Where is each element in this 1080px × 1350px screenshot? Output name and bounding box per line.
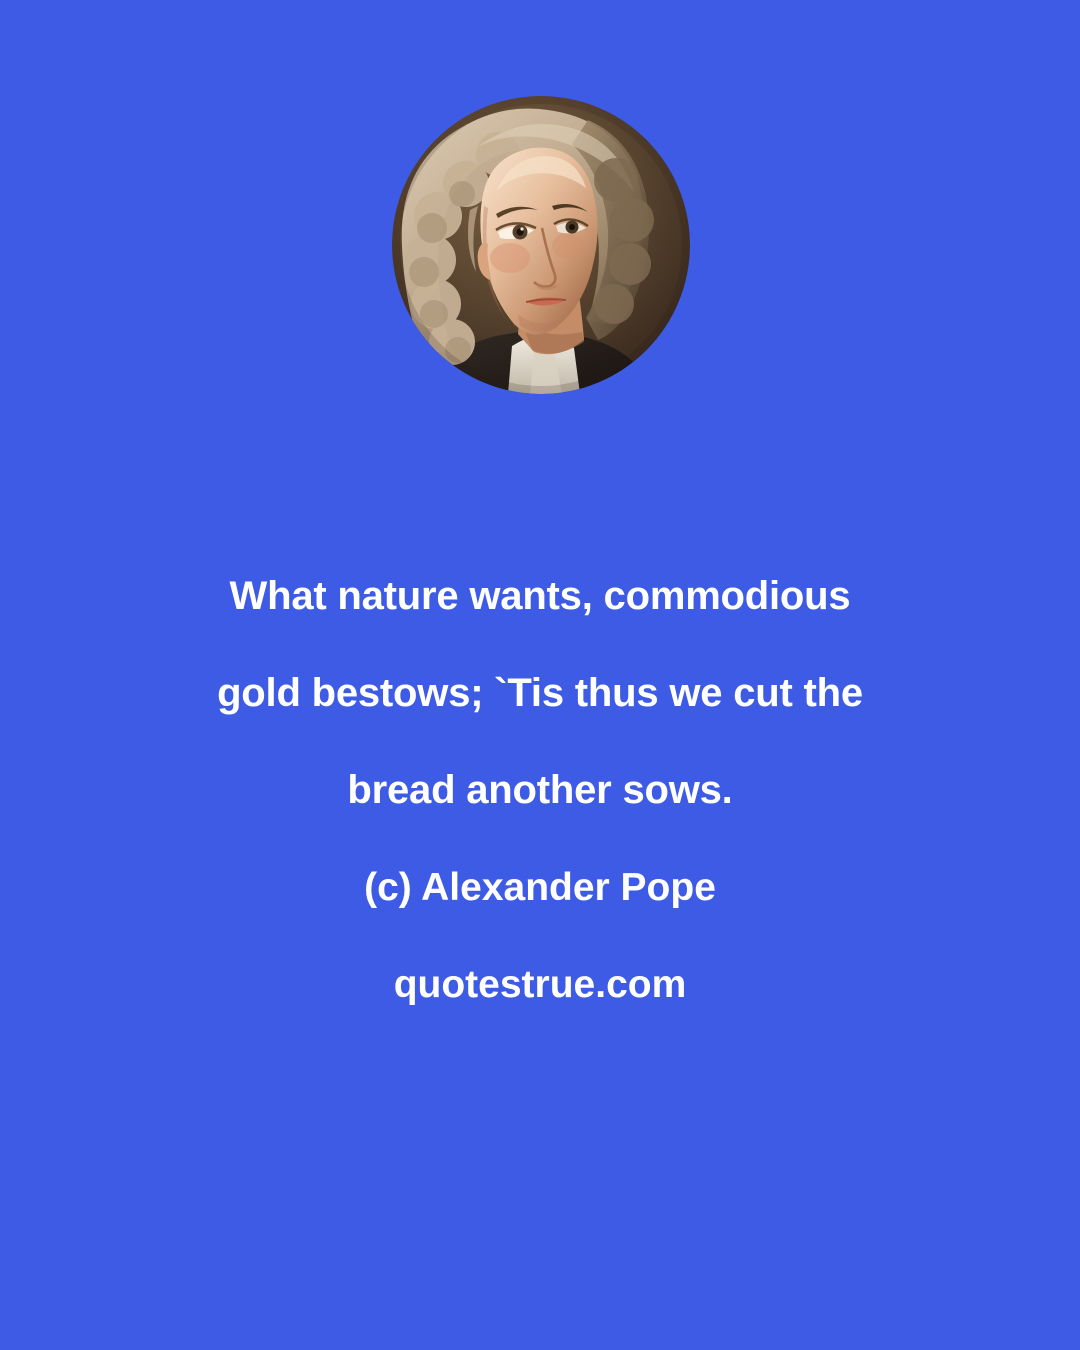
quote-text-block: What nature wants, commodious gold besto… [0,548,1080,1033]
quote-attribution: (c) Alexander Pope [0,839,1080,936]
author-portrait-avatar [392,96,690,394]
author-portrait-icon [392,96,690,394]
quote-card: What nature wants, commodious gold besto… [0,0,1080,1350]
site-url: quotestrue.com [0,936,1080,1033]
quote-text: What nature wants, commodious gold besto… [0,548,1080,839]
